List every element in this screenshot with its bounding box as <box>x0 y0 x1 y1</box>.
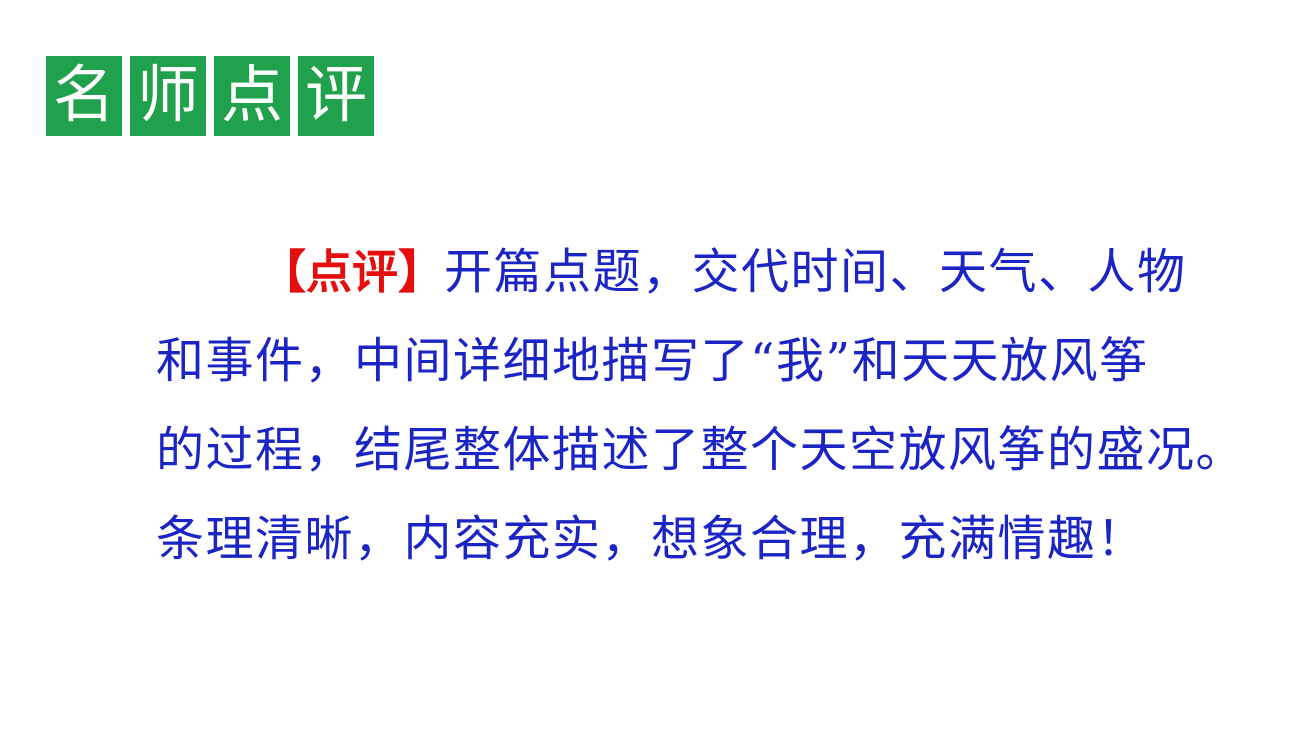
page-title: 名 师 点 评 <box>46 56 374 136</box>
commentary-line-2: 和事件，中间详细地描写了“我”和天天放风筝 <box>156 317 1202 406</box>
title-tile-char-1: 名 <box>53 64 115 126</box>
title-tile-4: 评 <box>298 56 374 136</box>
title-tile-char-4: 评 <box>305 64 367 126</box>
title-tile-3: 点 <box>214 56 290 136</box>
title-tile-char-3: 点 <box>221 64 283 126</box>
commentary-line-1: 【点评】开篇点题，交代时间、天气、人物 <box>156 228 1202 317</box>
title-tile-char-2: 师 <box>137 64 199 126</box>
commentary-line-4: 条理清晰，内容充实，想象合理，充满情趣！ <box>156 495 1202 584</box>
title-tile-2: 师 <box>130 56 206 136</box>
commentary-paragraph: 【点评】开篇点题，交代时间、天气、人物 和事件，中间详细地描写了“我”和天天放风… <box>156 228 1202 584</box>
title-tile-1: 名 <box>46 56 122 136</box>
commentary-tag: 【点评】 <box>260 245 444 299</box>
slide-canvas: 名 师 点 评 【点评】开篇点题，交代时间、天气、人物 和事件，中间详细地描写了… <box>0 0 1296 729</box>
commentary-line-3: 的过程，结尾整体描述了整个天空放风筝的盛况。 <box>156 406 1202 495</box>
commentary-line-1-text: 开篇点题，交代时间、天气、人物 <box>444 244 1187 300</box>
